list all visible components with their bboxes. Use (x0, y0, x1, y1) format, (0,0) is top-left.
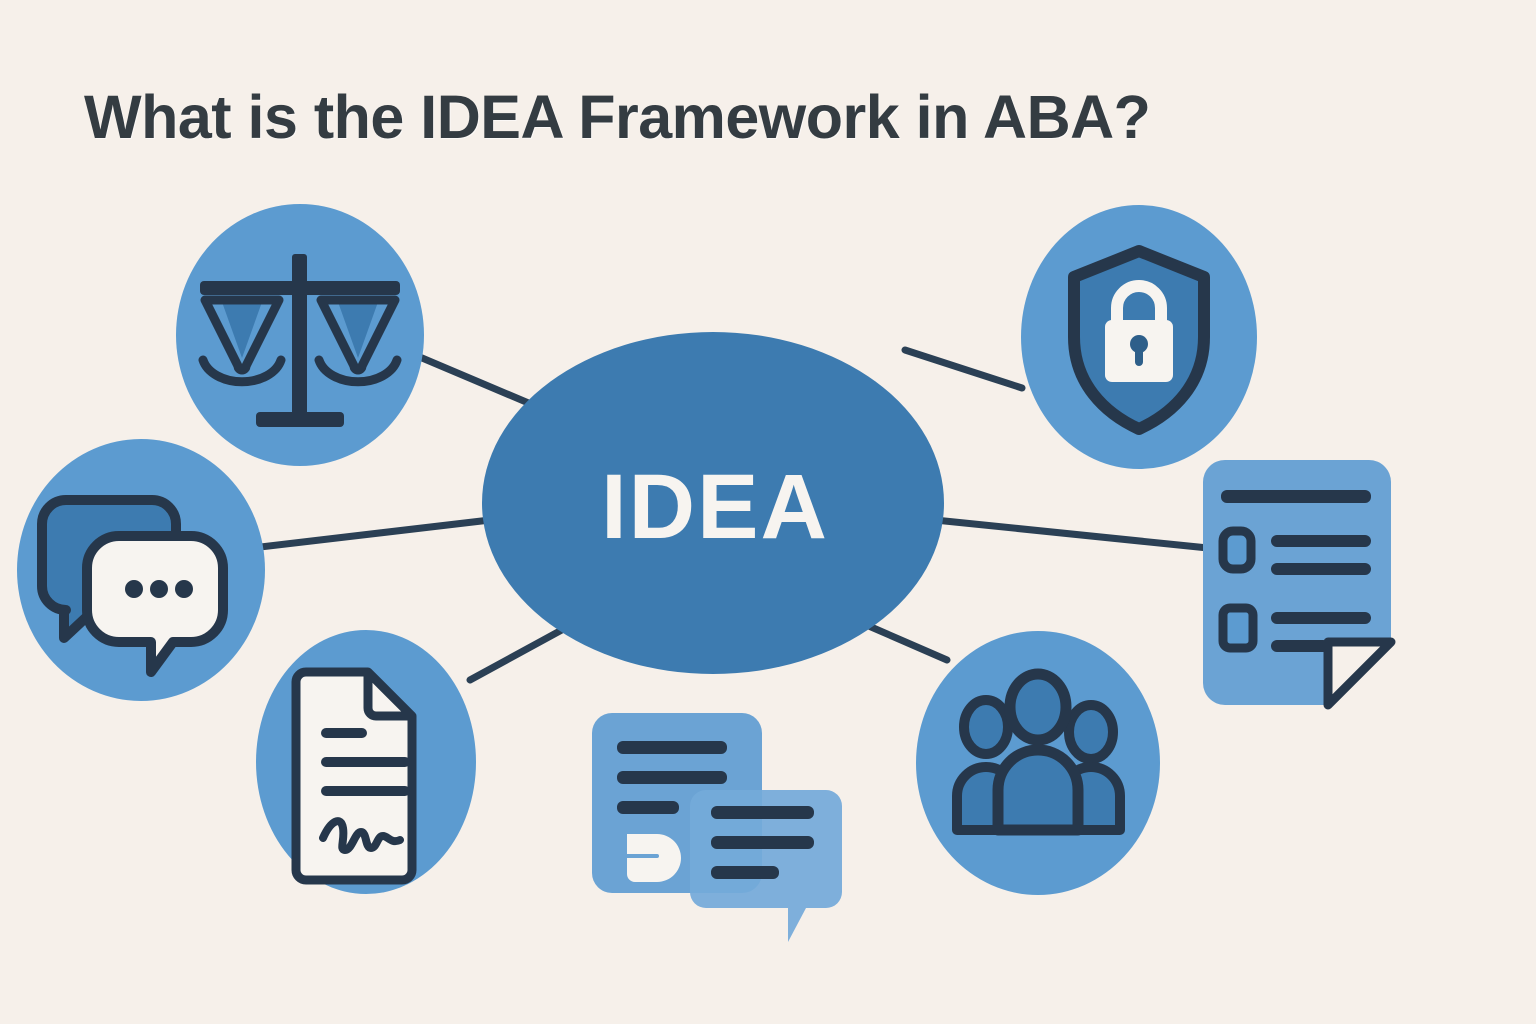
message-line-f3 (711, 866, 779, 879)
form-line-1b (1271, 563, 1371, 575)
form-field-box-2 (1223, 608, 1253, 648)
message-avatar-shape (627, 834, 681, 882)
connector-center-to-shield-lock (905, 350, 1022, 388)
doc-line-1 (321, 728, 367, 738)
node-message-cards[interactable] (592, 713, 842, 942)
chat-dot-3 (175, 580, 193, 598)
node-signed-document[interactable] (256, 630, 476, 894)
message-line-b3 (617, 801, 679, 814)
idea-framework-diagram (0, 0, 1536, 1024)
node-people-group[interactable] (916, 631, 1160, 895)
connector-center-to-chat-bubbles (252, 520, 490, 548)
message-line-b1 (617, 741, 727, 754)
form-line-1a (1271, 535, 1371, 547)
shield-lock-icon (1074, 251, 1204, 429)
message-line-f1 (711, 806, 814, 819)
signed-document-icon (296, 672, 412, 880)
connector-center-to-scales (415, 355, 545, 410)
center-node[interactable] (482, 332, 944, 674)
form-field-box-1 (1223, 531, 1251, 569)
form-line-2b (1271, 640, 1329, 652)
node-chat-bubbles[interactable] (17, 439, 265, 701)
doc-line-3 (321, 786, 410, 796)
form-header-bar (1221, 490, 1371, 503)
chat-dot-2 (150, 580, 168, 598)
node-shield-lock[interactable] (1021, 205, 1257, 469)
chat-dot-1 (125, 580, 143, 598)
doc-line-2 (321, 757, 410, 767)
diagram-canvas: What is the IDEA Framework in ABA? (0, 0, 1536, 1024)
form-line-2a (1271, 612, 1371, 624)
message-line-f2 (711, 836, 814, 849)
connector-center-to-form-document (935, 520, 1208, 548)
message-line-b2 (617, 771, 727, 784)
center-node-ellipse[interactable] (482, 332, 944, 674)
node-scales[interactable] (176, 204, 424, 466)
node-form-document[interactable] (1203, 460, 1391, 705)
